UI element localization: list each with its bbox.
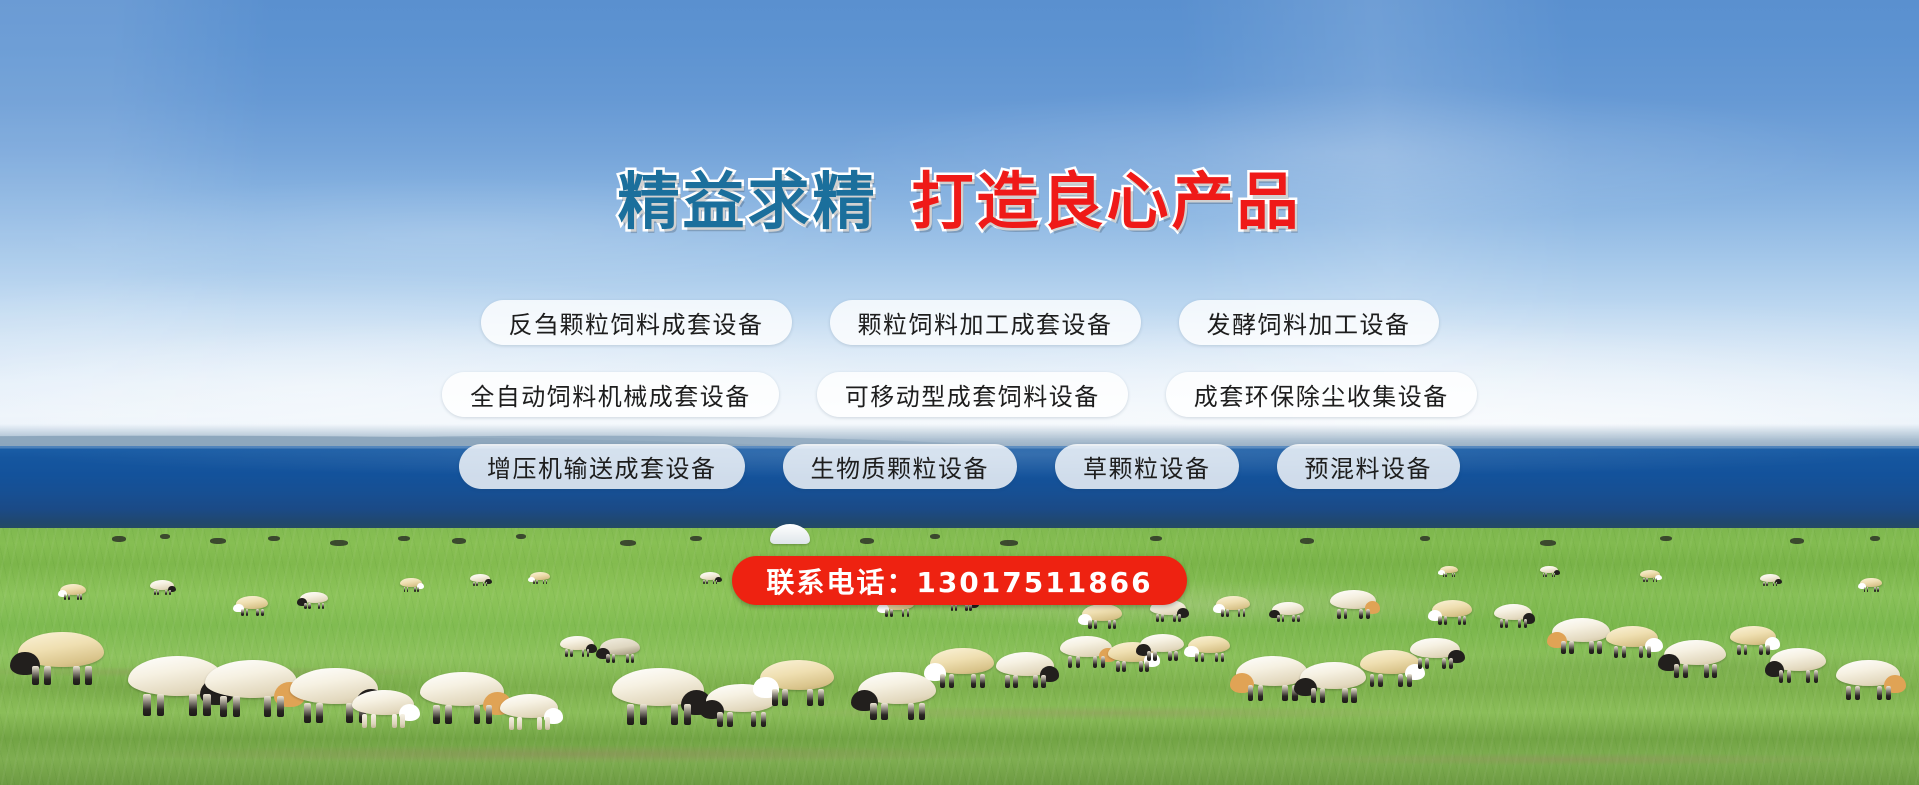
sheep-leg	[1766, 645, 1770, 655]
sheep-leg	[751, 712, 757, 727]
sheep-leg	[1814, 670, 1818, 683]
sheep-leg	[1683, 664, 1688, 678]
sheep-leg	[902, 609, 905, 617]
sheep-leg	[233, 696, 240, 717]
category-pill-row: 反刍颗粒饲料成套设备颗粒饲料加工成套设备发酵饲料加工设备	[0, 300, 1919, 345]
sheep-leg	[570, 649, 573, 657]
distant-livestock	[1300, 538, 1314, 544]
sheep	[1410, 638, 1460, 669]
sheep	[1060, 636, 1112, 668]
sheep-leg	[1005, 675, 1010, 688]
sheep-leg	[1101, 656, 1105, 668]
sheep-leg	[671, 704, 678, 725]
sheep-leg	[1041, 675, 1046, 688]
sheep	[1606, 626, 1658, 658]
sheep-leg	[940, 674, 945, 688]
sheep-leg	[1282, 685, 1288, 701]
sheep	[420, 672, 504, 724]
sheep-leg	[445, 705, 452, 724]
category-pill[interactable]: 预混料设备	[1277, 444, 1461, 489]
sheep-leg	[1674, 664, 1679, 678]
category-pill-rows: 反刍颗粒饲料成套设备颗粒饲料加工成套设备发酵饲料加工设备全自动饲料机械成套设备可…	[0, 300, 1919, 516]
sheep-leg	[32, 666, 39, 685]
sheep-leg	[1425, 658, 1429, 669]
sheep-leg	[971, 674, 976, 688]
sheep-leg	[1311, 688, 1316, 703]
sheep-leg	[44, 666, 51, 685]
contact-phone-button[interactable]: 联系电话：13017511866	[732, 556, 1186, 605]
headline-blue-text: 精益求精	[617, 165, 877, 238]
sheep	[612, 668, 704, 725]
distant-livestock	[1660, 536, 1672, 541]
sheep-leg	[870, 703, 876, 720]
sheep-leg	[1122, 661, 1126, 672]
category-pill[interactable]: 增压机输送成套设备	[459, 444, 745, 489]
distant-livestock	[1870, 536, 1880, 541]
sheep	[500, 694, 558, 730]
sheep-leg	[1359, 609, 1363, 619]
sheep-leg	[955, 604, 957, 611]
sheep	[1082, 604, 1122, 629]
sheep-leg	[1215, 653, 1218, 662]
sheep-leg	[881, 703, 887, 720]
banner-headline: 精益求精打造良心产品	[0, 171, 1919, 233]
sheep-leg	[1438, 616, 1441, 625]
sheep-leg	[1013, 675, 1018, 688]
sheep	[1140, 634, 1184, 661]
distant-livestock	[1420, 536, 1430, 541]
sheep-leg	[818, 689, 824, 706]
sheep-leg	[220, 696, 227, 717]
sheep-leg	[1366, 609, 1370, 619]
sheep-leg	[640, 704, 647, 725]
sheep-leg	[627, 704, 634, 725]
sheep-leg	[400, 714, 405, 728]
sheep-leg	[1458, 616, 1461, 625]
sheep-leg	[371, 714, 376, 728]
sheep	[205, 660, 297, 717]
sheep-leg	[1344, 609, 1348, 619]
distant-livestock	[160, 534, 170, 539]
sheep-leg	[908, 703, 914, 720]
category-pill-row: 增压机输送成套设备生物质颗粒设备草颗粒设备预混料设备	[0, 444, 1919, 489]
sheep-leg	[1258, 685, 1264, 701]
distant-livestock	[330, 540, 348, 546]
sheep-leg	[362, 714, 367, 728]
sheep-leg	[1370, 674, 1375, 687]
sheep-leg	[1226, 609, 1229, 617]
sheep-leg	[1093, 656, 1097, 668]
sheep-leg	[1712, 664, 1717, 678]
sheep-leg	[1597, 641, 1602, 654]
sheep-leg	[1173, 614, 1176, 622]
sheep-leg	[1292, 615, 1295, 622]
sheep-leg	[1561, 641, 1566, 654]
sheep-leg	[537, 717, 542, 730]
sheep	[560, 636, 594, 657]
sheep-leg	[1614, 646, 1618, 658]
sheep-leg	[1463, 616, 1466, 625]
sheep-leg	[264, 696, 271, 717]
sheep-leg	[684, 704, 691, 725]
sheep-leg	[1886, 686, 1891, 700]
sheep-leg	[1221, 653, 1224, 662]
sheep-leg	[631, 654, 634, 663]
sheep	[600, 638, 640, 663]
sheep-leg	[1449, 658, 1453, 669]
category-pill[interactable]: 发酵饲料加工设备	[1179, 300, 1439, 345]
sheep-leg	[885, 609, 888, 617]
sheep-leg	[772, 689, 778, 706]
sheep-leg	[1221, 609, 1224, 617]
sheep-leg	[587, 649, 590, 657]
sheep-leg	[1248, 685, 1254, 701]
sheep-leg	[509, 717, 514, 730]
sheep-leg	[1647, 646, 1651, 658]
sheep	[1300, 662, 1366, 703]
sheep-leg	[1407, 674, 1412, 687]
sheep-leg	[1277, 615, 1280, 622]
distant-livestock	[516, 534, 526, 539]
sheep-leg	[85, 666, 92, 685]
distant-livestock	[398, 536, 410, 541]
sheep-leg	[392, 714, 397, 728]
sheep-leg	[1147, 651, 1151, 661]
sheep-leg	[1855, 686, 1860, 700]
sheep	[1188, 636, 1230, 662]
sheep-leg	[1113, 620, 1116, 629]
sheep-leg	[1174, 651, 1178, 661]
sheep-leg	[1779, 670, 1783, 683]
distant-livestock	[1000, 540, 1018, 546]
sheep-leg	[919, 703, 925, 720]
sheep-leg	[1153, 651, 1157, 661]
sheep-leg	[1337, 609, 1341, 619]
category-pill[interactable]: 可移动型成套饲料设备	[817, 372, 1128, 417]
sheep	[760, 660, 834, 706]
distant-livestock	[690, 536, 702, 541]
distant-livestock	[860, 538, 874, 544]
sheep-leg	[1094, 620, 1097, 629]
sheep-leg	[1787, 670, 1791, 683]
sheep-leg	[1704, 664, 1709, 678]
sheep-leg	[1846, 686, 1851, 700]
sheep-leg	[241, 609, 244, 616]
sheep	[858, 672, 936, 720]
category-pill[interactable]: 反刍颗粒饲料成套设备	[481, 300, 792, 345]
sheep-leg	[1759, 645, 1763, 655]
sheep-leg	[1378, 674, 1383, 687]
sheep	[1770, 648, 1826, 683]
sheep-leg	[606, 654, 609, 663]
sheep-leg	[807, 689, 813, 706]
sheep-leg	[486, 705, 493, 724]
sheep-leg	[1342, 688, 1347, 703]
sheep-leg	[965, 604, 967, 611]
sheep-leg	[1033, 675, 1038, 688]
sheep-leg	[727, 712, 733, 727]
sheep-leg	[1622, 646, 1626, 658]
sheep-leg	[717, 712, 723, 727]
sheep-leg	[1877, 686, 1882, 700]
sheep-leg	[1076, 656, 1080, 668]
sheep	[1836, 660, 1900, 700]
contact-cta-wrapper: 联系电话：13017511866	[0, 556, 1919, 605]
sheep-leg	[143, 694, 151, 716]
sheep-leg	[261, 609, 264, 616]
sheep-leg	[1178, 614, 1181, 622]
sheep	[1494, 604, 1532, 628]
category-pill[interactable]: 生物质颗粒设备	[783, 444, 1018, 489]
sheep-leg	[1398, 674, 1403, 687]
sheep-leg	[949, 674, 954, 688]
sheep	[1552, 618, 1610, 654]
sheep-leg	[582, 649, 585, 657]
sheep-leg	[1442, 658, 1446, 669]
category-pill[interactable]: 草颗粒设备	[1055, 444, 1239, 489]
sheep-leg	[951, 604, 953, 611]
category-pill[interactable]: 全自动饲料机械成套设备	[442, 372, 779, 417]
sheep-leg	[474, 705, 481, 724]
sheep-leg	[1145, 661, 1149, 672]
sheep-leg	[612, 654, 615, 663]
sheep-leg	[907, 609, 910, 617]
sheep-leg	[1639, 646, 1643, 658]
sheep-leg	[1524, 619, 1527, 628]
category-pill[interactable]: 颗粒饲料加工成套设备	[830, 300, 1141, 345]
sheep-leg	[433, 705, 440, 724]
sheep-leg	[1418, 658, 1422, 669]
sheep-leg	[304, 703, 311, 723]
distant-livestock	[930, 534, 940, 539]
sheep-leg	[1500, 619, 1503, 628]
sheep-leg	[1737, 645, 1741, 655]
headline-red-text: 打造良心产品	[912, 165, 1302, 238]
sheep-leg	[1505, 619, 1508, 628]
sheep-leg	[1243, 609, 1246, 617]
sheep-leg	[73, 666, 80, 685]
distant-livestock	[268, 536, 280, 541]
category-pill-row: 全自动饲料机械成套设备可移动型成套饲料设备成套环保除尘收集设备	[0, 372, 1919, 417]
sheep-leg	[189, 694, 197, 716]
sheep-leg	[1444, 616, 1447, 625]
distant-livestock	[210, 538, 226, 544]
sheep-leg	[277, 696, 284, 717]
sheep-leg	[1518, 619, 1521, 628]
sheep-leg	[1297, 615, 1300, 622]
sheep-leg	[1139, 661, 1143, 672]
distant-livestock	[452, 538, 466, 544]
sheep-leg	[1116, 661, 1120, 672]
sheep-leg	[565, 649, 568, 657]
sheep-leg	[1161, 614, 1164, 622]
promo-banner: 精益求精打造良心产品 反刍颗粒饲料成套设备颗粒饲料加工成套设备发酵饲料加工设备全…	[0, 0, 1919, 785]
sheep-leg	[545, 717, 550, 730]
distant-livestock	[620, 540, 636, 546]
sheep	[996, 652, 1054, 688]
sheep-leg	[1806, 670, 1810, 683]
sheep	[1664, 640, 1726, 678]
sheep-leg	[980, 674, 985, 688]
sheep-leg	[1168, 651, 1172, 661]
sheep-leg	[1108, 620, 1111, 629]
distant-livestock	[1790, 538, 1804, 544]
sheep-leg	[1282, 615, 1285, 622]
sheep-leg	[1088, 620, 1091, 629]
sheep	[18, 632, 104, 685]
sheep-leg	[517, 717, 522, 730]
sheep-leg	[969, 604, 971, 611]
sheep-leg	[1068, 656, 1072, 668]
distant-livestock	[1150, 536, 1162, 541]
sheep-leg	[1744, 645, 1748, 655]
sheep-leg	[1351, 688, 1356, 703]
distant-livestock	[112, 536, 126, 542]
sheep-leg	[1238, 609, 1241, 617]
sheep-leg	[1569, 641, 1574, 654]
sheep	[352, 690, 414, 728]
sheep	[930, 648, 994, 688]
sheep-leg	[782, 689, 788, 706]
sheep-leg	[1201, 653, 1204, 662]
sheep-leg	[1156, 614, 1159, 622]
sheep-leg	[246, 609, 249, 616]
sheep-leg	[157, 694, 165, 716]
sheep-leg	[626, 654, 629, 663]
sheep-leg	[256, 609, 259, 616]
sheep-leg	[1320, 688, 1325, 703]
category-pill[interactable]: 成套环保除尘收集设备	[1166, 372, 1477, 417]
sheep-leg	[1195, 653, 1198, 662]
distant-livestock	[1540, 540, 1556, 546]
sheep	[1272, 602, 1304, 622]
sheep-leg	[890, 609, 893, 617]
sheep-leg	[316, 703, 323, 723]
distant-yurt	[770, 524, 810, 544]
sheep-leg	[1589, 641, 1594, 654]
sheep-leg	[761, 712, 767, 727]
